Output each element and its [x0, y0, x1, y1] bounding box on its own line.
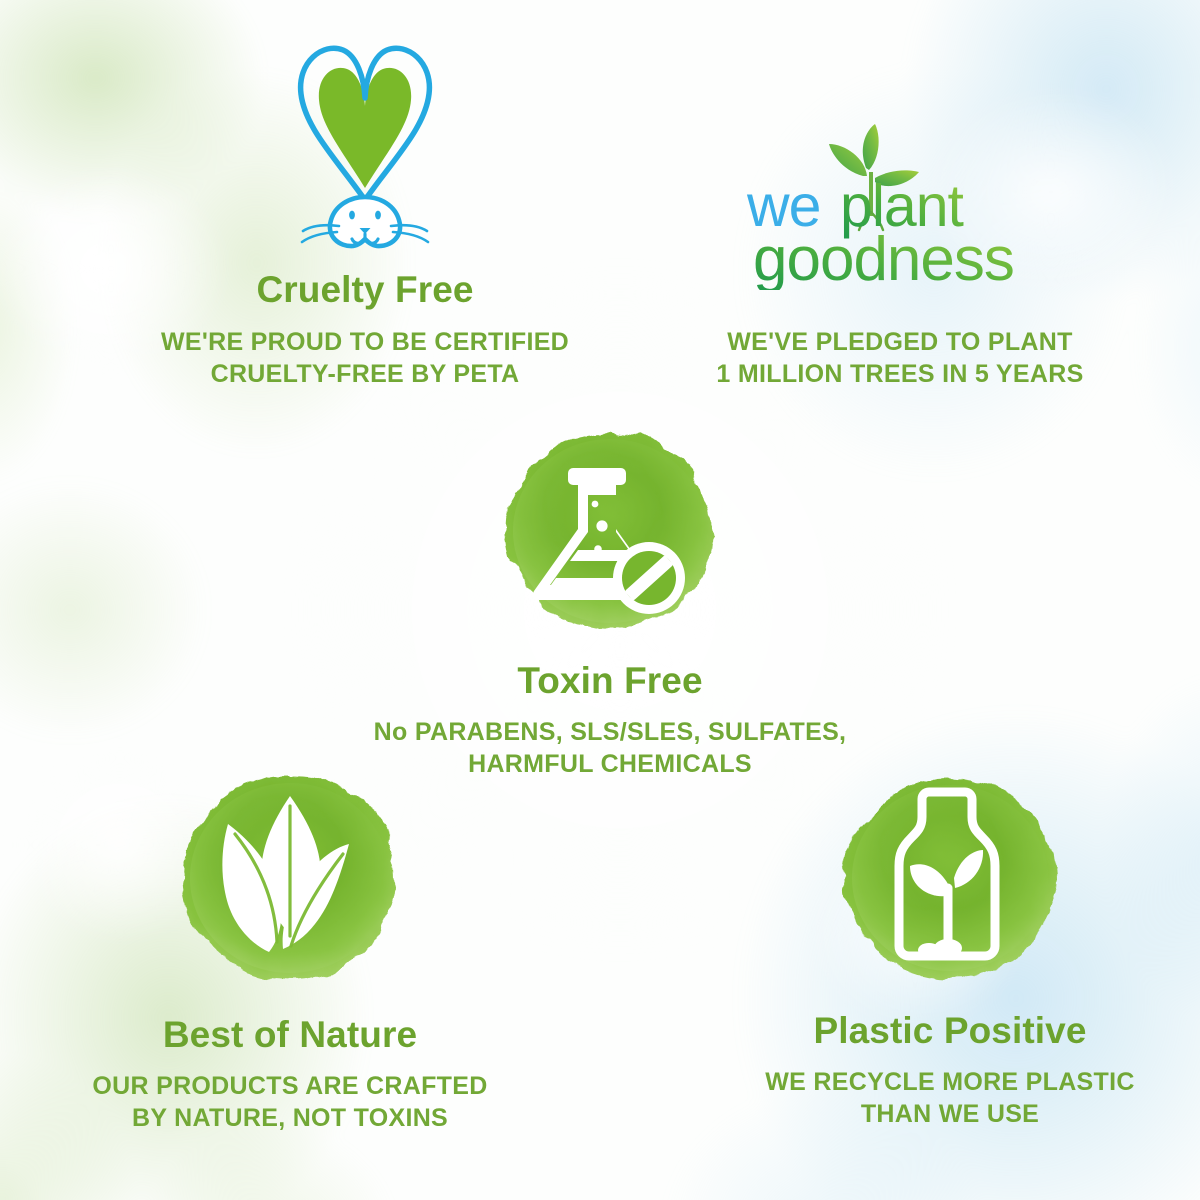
subtitle-line: CRUELTY-FREE BY PETA — [45, 358, 685, 390]
badge-toxin-free: Toxin Free No PARABENS, SLS/SLES, SULFAT… — [300, 418, 920, 780]
icon-container — [45, 40, 685, 257]
subtitle-line: OUR PRODUCTS ARE CRAFTED — [0, 1070, 600, 1102]
subtitle-line: WE'RE PROUD TO BE CERTIFIED — [45, 326, 685, 358]
badge-cruelty-free: Cruelty Free WE'RE PROUD TO BE CERTIFIED… — [45, 40, 685, 390]
subtitle-line: THAN WE USE — [640, 1098, 1200, 1130]
subtitle-line: BY NATURE, NOT TOXINS — [0, 1102, 600, 1134]
subtitle-line: WE RECYCLE MORE PLASTIC — [640, 1066, 1200, 1098]
badge-best-of-nature: Best of Nature OUR PRODUCTS ARE CRAFTED … — [0, 760, 600, 1134]
watercolor-wash-mid-left — [0, 430, 260, 790]
badge-subtitle: WE'VE PLEDGED TO PLANT 1 MILLION TREES I… — [610, 326, 1190, 390]
sprout-logo-icon: we plant goodness — [610, 120, 1190, 290]
badge-subtitle: WE'RE PROUD TO BE CERTIFIED CRUELTY-FREE… — [45, 326, 685, 390]
bottle-sprout-icon — [828, 762, 1072, 994]
infographic-canvas: Cruelty Free WE'RE PROUD TO BE CERTIFIED… — [0, 0, 1200, 1200]
flask-no-entry-icon — [492, 418, 728, 644]
three-leaves-icon — [165, 760, 415, 996]
icon-container — [0, 760, 600, 996]
subtitle-rest: PARABENS, SLS/SLES, SULFATES, — [415, 718, 846, 746]
badge-we-plant-goodness: we plant goodness WE'VE PLEDGED TO PLANT… — [610, 120, 1190, 390]
icon-container — [300, 418, 920, 644]
subtitle-line: 1 MILLION TREES IN 5 YEARS — [610, 358, 1190, 390]
subtitle-lead: No — [374, 718, 408, 746]
badge-title: Cruelty Free — [45, 271, 685, 310]
badge-plastic-positive: Plastic Positive WE RECYCLE MORE PLASTIC… — [640, 762, 1200, 1130]
badge-title: Best of Nature — [0, 1016, 600, 1055]
svg-text:goodness: goodness — [753, 225, 1014, 290]
badge-subtitle: WE RECYCLE MORE PLASTIC THAN WE USE — [640, 1066, 1200, 1130]
peta-bunny-heart-icon — [279, 40, 451, 257]
icon-container — [640, 762, 1200, 994]
subtitle-line: WE'VE PLEDGED TO PLANT — [610, 326, 1190, 358]
badge-subtitle: OUR PRODUCTS ARE CRAFTED BY NATURE, NOT … — [0, 1070, 600, 1134]
badge-title: Toxin Free — [300, 662, 920, 701]
badge-title: Plastic Positive — [640, 1012, 1200, 1051]
subtitle-line: No PARABENS, SLS/SLES, SULFATES, — [300, 716, 920, 748]
